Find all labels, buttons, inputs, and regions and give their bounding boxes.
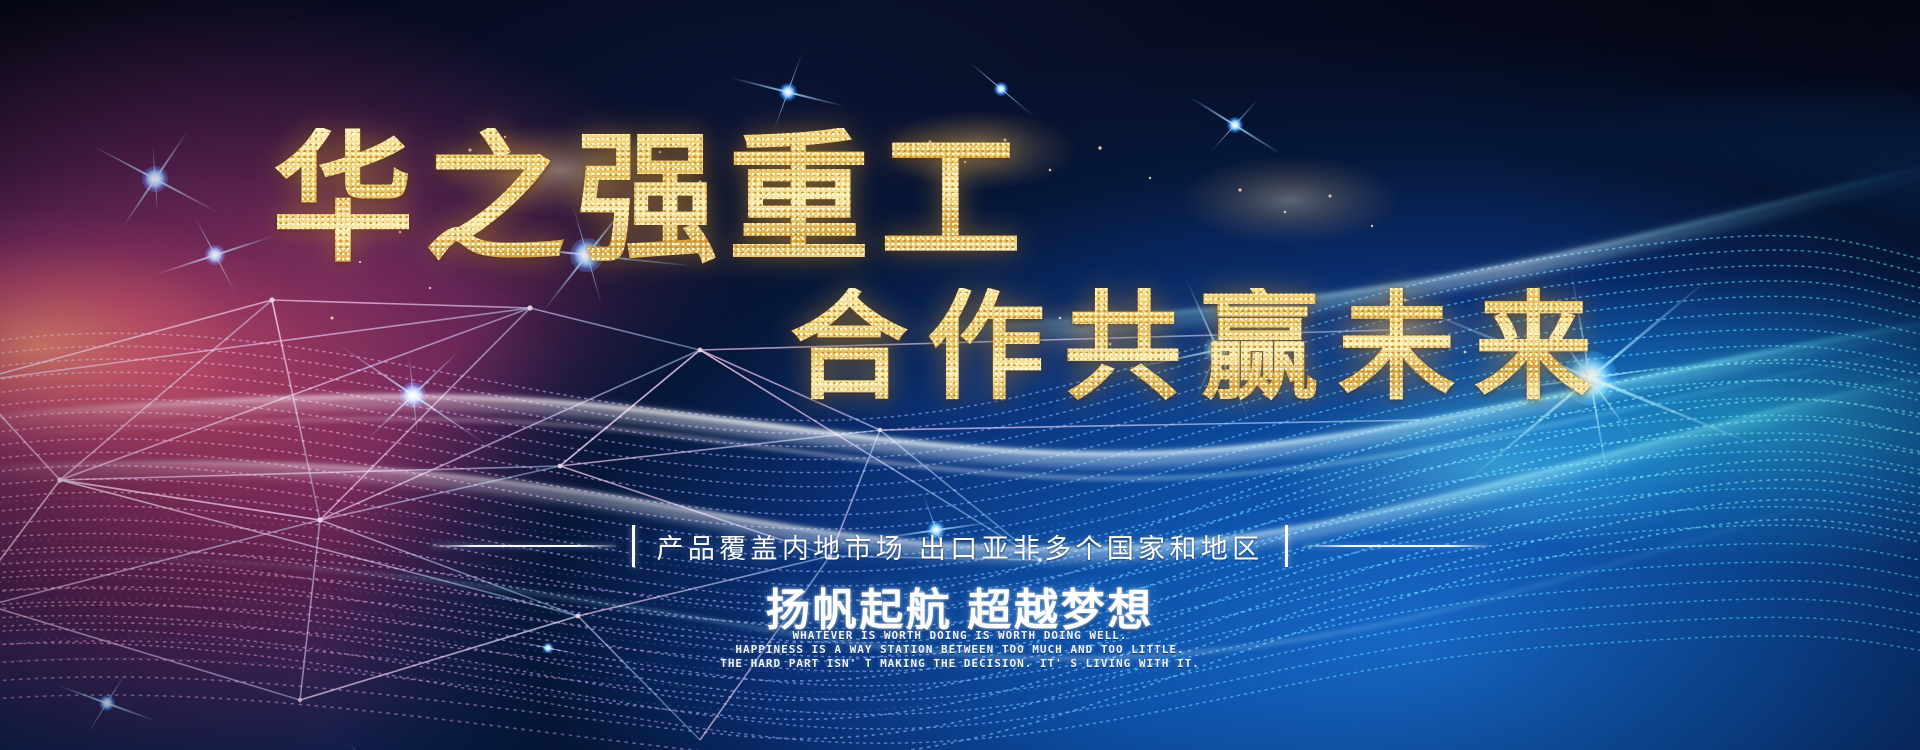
tagline-text: 产品覆盖内地市场 出口亚非多个国家和地区 — [651, 527, 1270, 566]
english-quote-line-1: WHATEVER IS WORTH DOING IS WORTH DOING W… — [0, 629, 1920, 643]
english-quote-line-2: HAPPINESS IS A WAY STATION BETWEEN TOO M… — [0, 643, 1920, 657]
banner-content: 华之强重工 合作共赢未来 产品覆盖内地市场 出口亚非多个国家和地区 扬帆起航 超… — [0, 0, 1920, 750]
tagline-rule-left — [432, 545, 616, 547]
tagline-pipe-right — [1285, 525, 1288, 567]
promo-banner: 华之强重工 合作共赢未来 产品覆盖内地市场 出口亚非多个国家和地区 扬帆起航 超… — [0, 0, 1920, 750]
tagline-pipe-left — [632, 525, 635, 567]
english-quote-block: WHATEVER IS WORTH DOING IS WORTH DOING W… — [0, 629, 1920, 671]
headline-line-1: 华之强重工 — [272, 128, 1032, 270]
tagline-rule-right — [1304, 545, 1488, 547]
english-quote-line-3: THE HARD PART ISN' T MAKING THE DECISION… — [0, 657, 1920, 671]
tagline-row: 产品覆盖内地市场 出口亚非多个国家和地区 — [0, 524, 1920, 568]
headline-line-2: 合作共赢未来 — [790, 288, 1611, 406]
